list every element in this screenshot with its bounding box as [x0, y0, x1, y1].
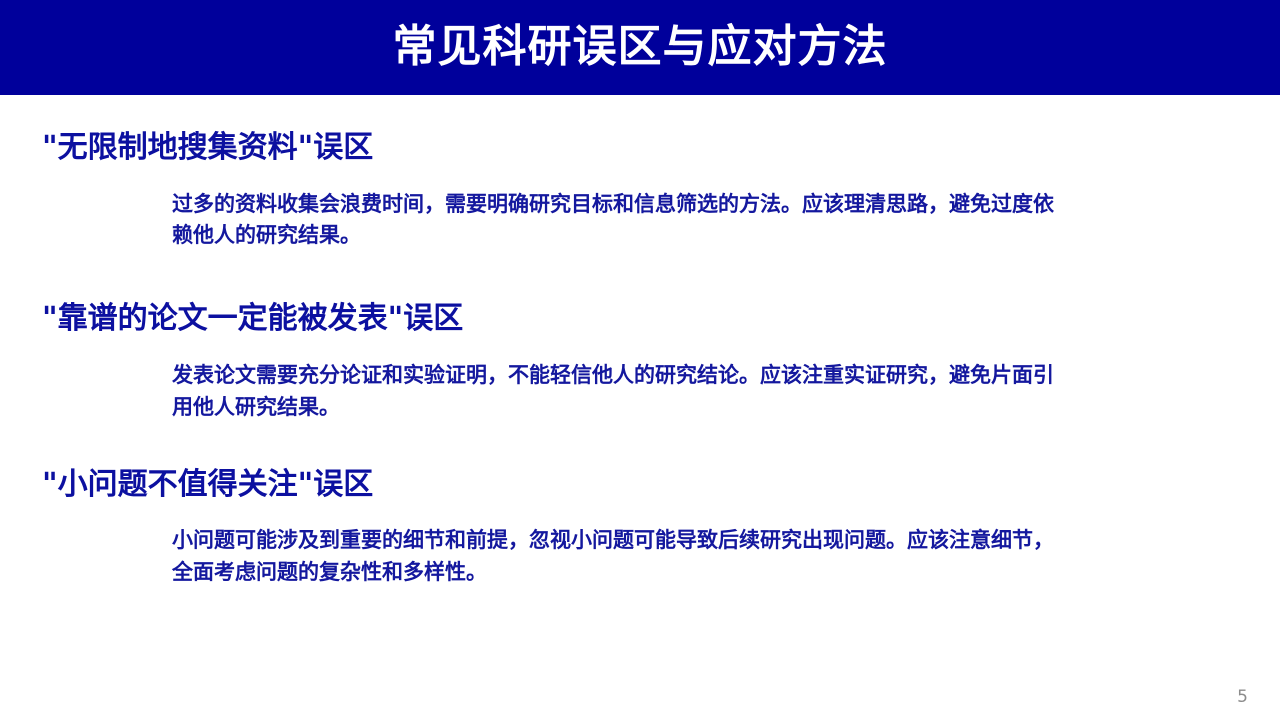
slide-content: "无限制地搜集资料"误区 过多的资料收集会浪费时间，需要明确研究目标和信息筛选的… — [0, 95, 1280, 720]
page-title: 常见科研误区与应对方法 — [393, 25, 888, 69]
section-misconception-3: "小问题不值得关注"误区 小问题可能涉及到重要的细节和前提，忽视小问题可能导致后… — [0, 466, 1280, 589]
section-body-text: 发表论文需要充分论证和实验证明，不能轻信他人的研究结论。应该注重实证研究，避免片… — [172, 360, 1062, 424]
page-number: 5 — [1237, 689, 1248, 706]
section-body-text: 过多的资料收集会浪费时间，需要明确研究目标和信息筛选的方法。应该理清思路，避免过… — [172, 189, 1062, 253]
section-heading: "无限制地搜集资料"误区 — [42, 129, 1280, 167]
section-body-text: 小问题可能涉及到重要的细节和前提，忽视小问题可能导致后续研究出现问题。应该注意细… — [172, 525, 1062, 589]
slide-title-bar: 常见科研误区与应对方法 — [0, 0, 1280, 95]
section-misconception-1: "无限制地搜集资料"误区 过多的资料收集会浪费时间，需要明确研究目标和信息筛选的… — [0, 129, 1280, 252]
slide: 常见科研误区与应对方法 "无限制地搜集资料"误区 过多的资料收集会浪费时间，需要… — [0, 0, 1280, 720]
section-heading: "小问题不值得关注"误区 — [42, 466, 1280, 504]
section-heading: "靠谱的论文一定能被发表"误区 — [42, 300, 1280, 338]
section-misconception-2: "靠谱的论文一定能被发表"误区 发表论文需要充分论证和实验证明，不能轻信他人的研… — [0, 300, 1280, 423]
